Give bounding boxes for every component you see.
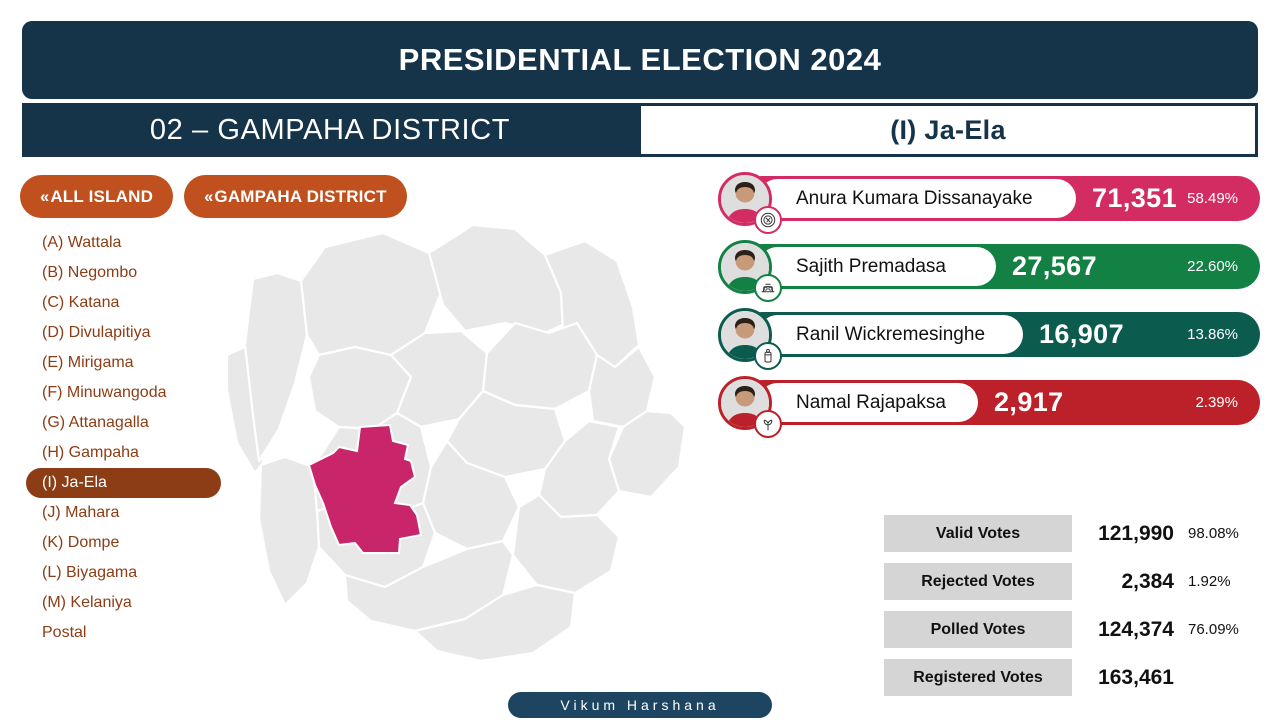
vote-summary-value: 163,461 <box>1072 666 1182 690</box>
division-list-item[interactable]: (J) Mahara <box>26 498 221 528</box>
division-list-item[interactable]: (H) Gampaha <box>26 438 221 468</box>
page-title: PRESIDENTIAL ELECTION 2024 <box>399 42 882 78</box>
vote-summary-value: 121,990 <box>1072 522 1182 546</box>
page-title-bar: PRESIDENTIAL ELECTION 2024 <box>22 21 1258 99</box>
compass-icon <box>754 206 782 234</box>
division-label: (I) Ja-Ela <box>890 115 1006 146</box>
map-region-negombo <box>245 273 307 461</box>
nav-button-group: ‹‹ALL ISLAND ‹‹GAMPAHA DISTRICT <box>20 175 407 218</box>
map-region-west-lower <box>259 457 319 605</box>
candidate-result-row[interactable]: Sajith Premadasa27,56722.60% <box>718 244 1260 289</box>
division-list-item[interactable]: (C) Katana <box>26 288 221 318</box>
gampaha-district-map[interactable] <box>215 215 685 685</box>
breadcrumb: 02 – GAMPAHA DISTRICT (I) Ja-Ela <box>22 103 1258 157</box>
candidate-vote-count: 16,907 <box>1039 312 1124 357</box>
election-dashboard: PRESIDENTIAL ELECTION 2024 02 – GAMPAHA … <box>0 0 1280 720</box>
candidate-name: Ranil Wickremesinghe <box>758 315 1023 354</box>
candidate-results-list: Anura Kumara Dissanayake71,35158.49%Saji… <box>718 176 1260 448</box>
division-list-item[interactable]: (L) Biyagama <box>26 558 221 588</box>
division-list-item[interactable]: Postal <box>26 618 221 648</box>
division-list-item[interactable]: (B) Negombo <box>26 258 221 288</box>
vote-summary-table: Valid Votes121,99098.08%Rejected Votes2,… <box>884 515 1264 707</box>
map-region-divulapitiya <box>429 225 575 333</box>
vote-summary-value: 2,384 <box>1072 570 1182 594</box>
vote-summary-label: Valid Votes <box>884 515 1072 552</box>
back-to-all-island-button[interactable]: ‹‹ALL ISLAND <box>20 175 173 218</box>
vote-summary-row: Registered Votes163,461 <box>884 659 1264 696</box>
division-list: (A) Wattala(B) Negombo(C) Katana(D) Divu… <box>26 228 221 648</box>
vote-summary-row: Rejected Votes2,3841.92% <box>884 563 1264 600</box>
vote-summary-label: Rejected Votes <box>884 563 1072 600</box>
division-list-item[interactable]: (E) Mirigama <box>26 348 221 378</box>
candidate-name: Namal Rajapaksa <box>758 383 978 422</box>
watermark: Vikum Harshana <box>508 692 772 718</box>
map-svg <box>215 215 685 685</box>
division-list-item[interactable]: (G) Attanagalla <box>26 408 221 438</box>
candidate-result-row[interactable]: Anura Kumara Dissanayake71,35158.49% <box>718 176 1260 221</box>
nav-button-label: ALL ISLAND <box>50 187 153 207</box>
flower-bud-icon <box>754 410 782 438</box>
vote-summary-percent: 76.09% <box>1182 621 1239 638</box>
map-region-attanagalla <box>483 323 597 409</box>
vote-summary-percent: 98.08% <box>1182 525 1239 542</box>
division-list-item[interactable]: (A) Wattala <box>26 228 221 258</box>
vote-summary-percent: 1.92% <box>1182 573 1231 590</box>
candidate-name: Anura Kumara Dissanayake <box>758 179 1076 218</box>
gas-cylinder-icon <box>754 342 782 370</box>
division-list-item[interactable]: (I) Ja-Ela <box>26 468 221 498</box>
candidate-vote-percent: 22.60% <box>1187 244 1238 289</box>
vote-summary-value: 124,374 <box>1072 618 1182 642</box>
candidate-vote-percent: 13.86% <box>1187 312 1238 357</box>
nav-button-label: GAMPAHA DISTRICT <box>214 187 386 207</box>
candidate-vote-count: 2,917 <box>994 380 1064 425</box>
candidate-vote-count: 71,351 <box>1092 176 1177 221</box>
double-chevron-left-icon: ‹‹ <box>204 187 211 207</box>
division-header-tab[interactable]: (I) Ja-Ela <box>638 103 1258 157</box>
double-chevron-left-icon: ‹‹ <box>40 187 47 207</box>
division-list-item[interactable]: (K) Dompe <box>26 528 221 558</box>
back-to-gampaha-district-button[interactable]: ‹‹GAMPAHA DISTRICT <box>184 175 407 218</box>
candidate-vote-percent: 58.49% <box>1187 176 1238 221</box>
vote-summary-row: Valid Votes121,99098.08% <box>884 515 1264 552</box>
candidate-name: Sajith Premadasa <box>758 247 996 286</box>
division-list-item[interactable]: (D) Divulapitiya <box>26 318 221 348</box>
division-list-item[interactable]: (M) Kelaniya <box>26 588 221 618</box>
telephone-icon <box>754 274 782 302</box>
candidate-result-row[interactable]: Namal Rajapaksa2,9172.39% <box>718 380 1260 425</box>
district-header: 02 – GAMPAHA DISTRICT <box>22 103 638 157</box>
candidate-vote-count: 27,567 <box>1012 244 1097 289</box>
district-label: 02 – GAMPAHA DISTRICT <box>150 114 510 147</box>
vote-summary-label: Polled Votes <box>884 611 1072 648</box>
division-list-item[interactable]: (F) Minuwangoda <box>26 378 221 408</box>
candidate-result-row[interactable]: Ranil Wickremesinghe16,90713.86% <box>718 312 1260 357</box>
vote-summary-row: Polled Votes124,37476.09% <box>884 611 1264 648</box>
vote-summary-label: Registered Votes <box>884 659 1072 696</box>
candidate-vote-percent: 2.39% <box>1195 380 1238 425</box>
